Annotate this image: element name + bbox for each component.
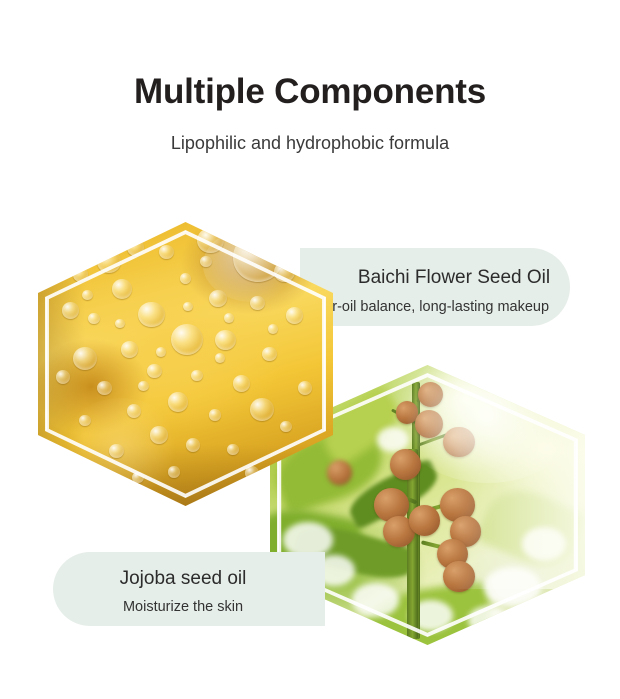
marketing-panel: Multiple Components Lipophilic and hydro… [0, 0, 620, 699]
baichi-flower-seed-oil-label-panel: Baichi Flower Seed Oil Water-oil balance… [300, 248, 570, 326]
baichi-flower-seed-oil-hexagon-image [38, 222, 333, 506]
ingredient-name: Jojoba seed oil [63, 569, 303, 588]
page-subtitle: Lipophilic and hydrophobic formula [0, 134, 620, 152]
page-title: Multiple Components [0, 74, 620, 109]
jojoba-seed-oil-label-panel: Jojoba seed oil Moisturize the skin [53, 552, 325, 626]
ingredient-benefit: Moisturize the skin [63, 600, 303, 615]
ingredient-name: Baichi Flower Seed Oil [338, 268, 570, 287]
